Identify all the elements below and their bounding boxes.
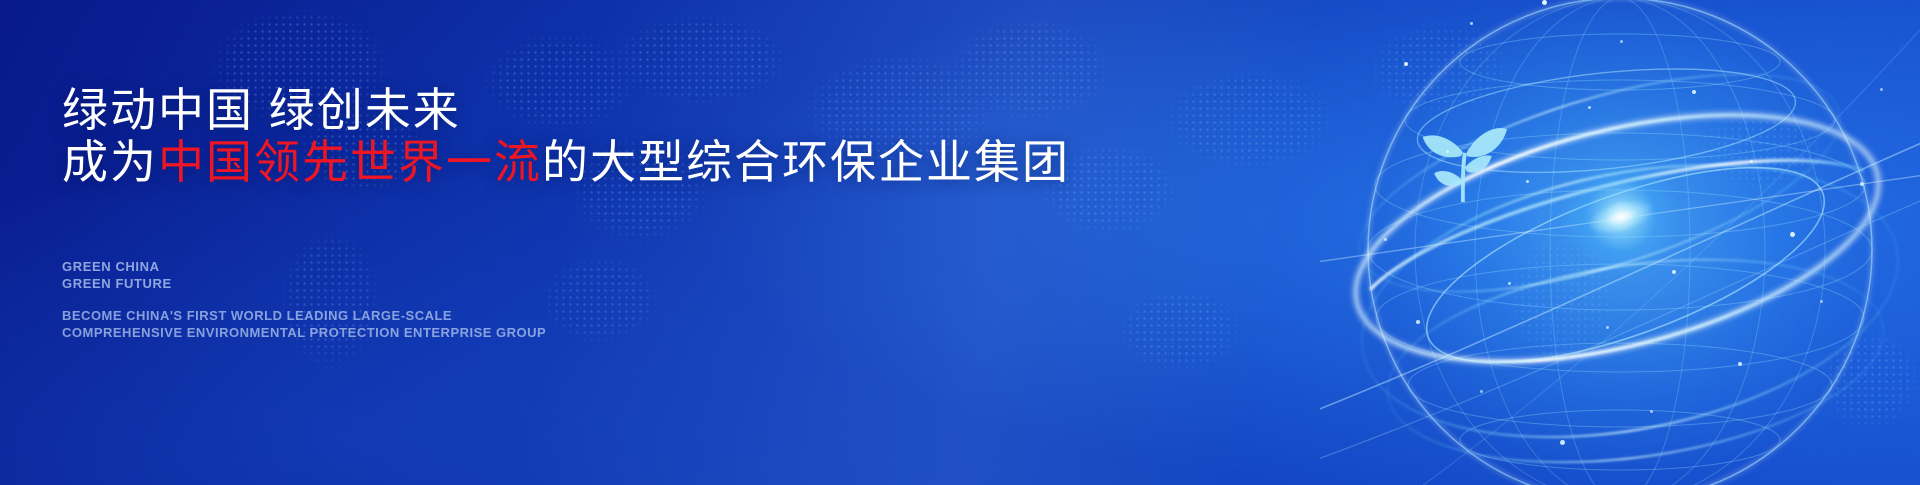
sprout-leaf-icon [1413, 114, 1509, 206]
description-line-1: BECOME CHINA'S FIRST WORLD LEADING LARGE… [62, 307, 546, 324]
headline-line-2: 成为中国领先世界一流的大型综合环保企业集团 [62, 134, 1070, 190]
globe-graphic [1320, 0, 1920, 485]
description-english: BECOME CHINA'S FIRST WORLD LEADING LARGE… [62, 307, 546, 341]
tagline-line-1: GREEN CHINA [62, 258, 172, 275]
headline-line-1: 绿动中国 绿创未来 [62, 82, 461, 138]
tagline-english: GREEN CHINA GREEN FUTURE [62, 258, 172, 292]
banner-copy: 绿动中国 绿创未来 成为中国领先世界一流的大型综合环保企业集团 GREEN CH… [60, 0, 1120, 485]
hero-banner: 绿动中国 绿创未来 成为中国领先世界一流的大型综合环保企业集团 GREEN CH… [0, 0, 1920, 485]
headline-highlight: 中国领先世界一流 [158, 136, 542, 188]
headline-prefix: 成为 [62, 136, 158, 188]
description-line-2: COMPREHENSIVE ENVIRONMENTAL PROTECTION E… [62, 324, 546, 341]
tagline-line-2: GREEN FUTURE [62, 275, 172, 292]
headline-suffix: 的大型综合环保企业集团 [542, 136, 1070, 188]
